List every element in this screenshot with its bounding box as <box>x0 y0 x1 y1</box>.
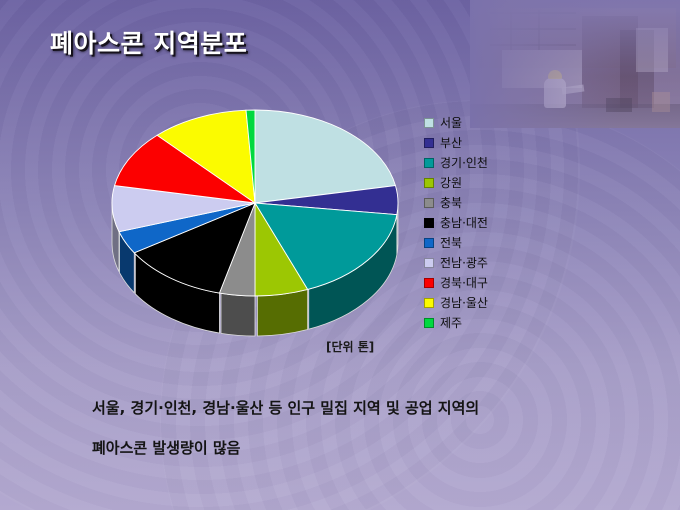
industrial-plant-photo <box>470 0 680 128</box>
legend-color-swatch <box>424 218 434 228</box>
legend-item-label: 강원 <box>440 177 462 189</box>
photo-fade-overlay <box>470 0 680 128</box>
legend-item[interactable]: 서울 <box>424 113 544 133</box>
pie-slice-side-강원 <box>257 289 307 336</box>
legend-item[interactable]: 강원 <box>424 173 544 193</box>
legend-item[interactable]: 제주 <box>424 313 544 333</box>
slide-canvas: 폐아스콘 지역분포 [단위 톤] 서울부산경기·인천강원충북충남·대전전북전남·… <box>0 0 680 510</box>
slide-caption: 서울, 경기·인천, 경남·울산 등 인구 밀집 지역 및 공업 지역의 폐아스… <box>92 388 612 468</box>
pie-top-slices <box>112 110 398 296</box>
legend-color-swatch <box>424 258 434 268</box>
legend-color-swatch <box>424 198 434 208</box>
legend-item[interactable]: 충남·대전 <box>424 213 544 233</box>
page-title: 폐아스콘 지역분포 <box>50 24 247 60</box>
legend-color-swatch <box>424 278 434 288</box>
legend-color-swatch <box>424 318 434 328</box>
pie-chart-svg <box>100 100 420 355</box>
legend-color-swatch <box>424 118 434 128</box>
legend-item-label: 서울 <box>440 117 462 129</box>
legend-item-label: 전북 <box>440 237 462 249</box>
pie-chart <box>100 100 420 355</box>
legend-color-swatch <box>424 158 434 168</box>
legend-item[interactable]: 경기·인천 <box>424 153 544 173</box>
legend-item-label: 경남·울산 <box>440 297 488 309</box>
legend-item[interactable]: 경북·대구 <box>424 273 544 293</box>
pie-slice-side-충북 <box>221 293 255 336</box>
legend-item-label: 충북 <box>440 197 462 209</box>
pie-chart-graphic <box>100 100 420 355</box>
legend-item[interactable]: 경남·울산 <box>424 293 544 313</box>
caption-line-2: 폐아스콘 발생량이 많음 <box>92 428 612 468</box>
legend-item-label: 경기·인천 <box>440 157 488 169</box>
chart-legend: 서울부산경기·인천강원충북충남·대전전북전남·광주경북·대구경남·울산제주 <box>424 113 544 333</box>
chart-unit-label: [단위 톤] <box>326 338 374 355</box>
legend-color-swatch <box>424 298 434 308</box>
legend-color-swatch <box>424 238 434 248</box>
legend-item[interactable]: 전남·광주 <box>424 253 544 273</box>
legend-color-swatch <box>424 178 434 188</box>
legend-item-label: 충남·대전 <box>440 217 488 229</box>
legend-color-swatch <box>424 138 434 148</box>
legend-item-label: 경북·대구 <box>440 277 488 289</box>
caption-line-1: 서울, 경기·인천, 경남·울산 등 인구 밀집 지역 및 공업 지역의 <box>92 388 612 428</box>
legend-item[interactable]: 전북 <box>424 233 544 253</box>
legend-item[interactable]: 충북 <box>424 193 544 213</box>
legend-item-label: 전남·광주 <box>440 257 488 269</box>
legend-item-label: 제주 <box>440 317 462 329</box>
legend-item-label: 부산 <box>440 137 462 149</box>
legend-item[interactable]: 부산 <box>424 133 544 153</box>
